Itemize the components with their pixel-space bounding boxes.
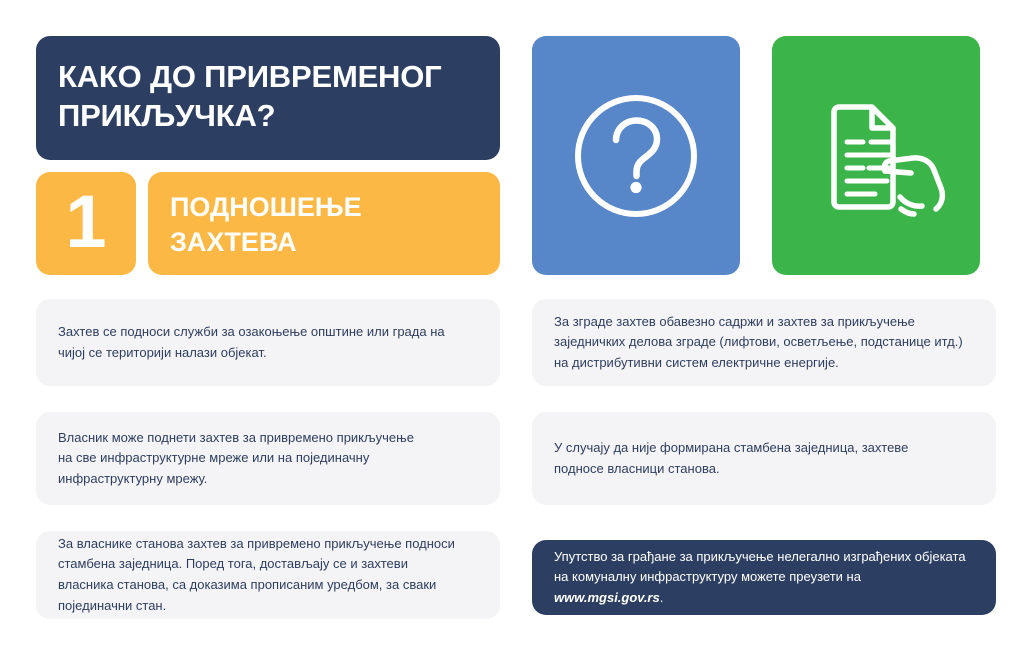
info-card-text: Упутство за грађане за прикључење нелега… (554, 547, 970, 609)
step-number: 1 (65, 185, 106, 259)
info-card-text: Захтев се подноси служби за озакоњење оп… (58, 322, 445, 363)
page-title: КАКО ДО ПРИВРЕМЕНОГ ПРИКЉУЧКА? (58, 58, 476, 136)
step-number-badge: 1 (36, 172, 136, 275)
info-card: Захтев се подноси служби за озакоњење оп… (36, 299, 500, 386)
step-label: ПОДНОШЕЊЕ ЗАХТЕВА (170, 190, 480, 260)
info-card-text: За зграде захтев обавезно садржи и захте… (554, 312, 963, 374)
info-card: За зграде захтев обавезно садржи и захте… (532, 299, 996, 386)
info-card-text: За власнике станова захтев за привремено… (58, 534, 455, 616)
website-link[interactable]: www.mgsi.gov.rs (554, 590, 660, 605)
info-card-text-after: . (660, 590, 664, 605)
info-card-website: Упутство за грађане за прикључење нелега… (532, 540, 996, 615)
info-card-text: Власник може поднети захтев за привремен… (58, 428, 414, 490)
question-mark-circle-icon (570, 90, 702, 222)
info-card-text: У случају да није формирана стамбена зај… (554, 438, 908, 479)
info-card-text-before: Упутство за грађане за прикључење нелега… (554, 549, 966, 585)
info-card: У случају да није формирана стамбена зај… (532, 412, 996, 505)
icon-tile-question (532, 36, 740, 275)
info-card: За власнике станова захтев за привремено… (36, 531, 500, 619)
infographic-page: КАКО ДО ПРИВРЕМЕНОГ ПРИКЉУЧКА? 1 ПОДНОШЕ… (0, 0, 1024, 655)
document-hand-icon (801, 85, 951, 227)
step-label-bar: ПОДНОШЕЊЕ ЗАХТЕВА (148, 172, 500, 275)
page-title-block: КАКО ДО ПРИВРЕМЕНОГ ПРИКЉУЧКА? (36, 36, 500, 160)
icon-tile-document (772, 36, 980, 275)
info-card: Власник може поднети захтев за привремен… (36, 412, 500, 505)
